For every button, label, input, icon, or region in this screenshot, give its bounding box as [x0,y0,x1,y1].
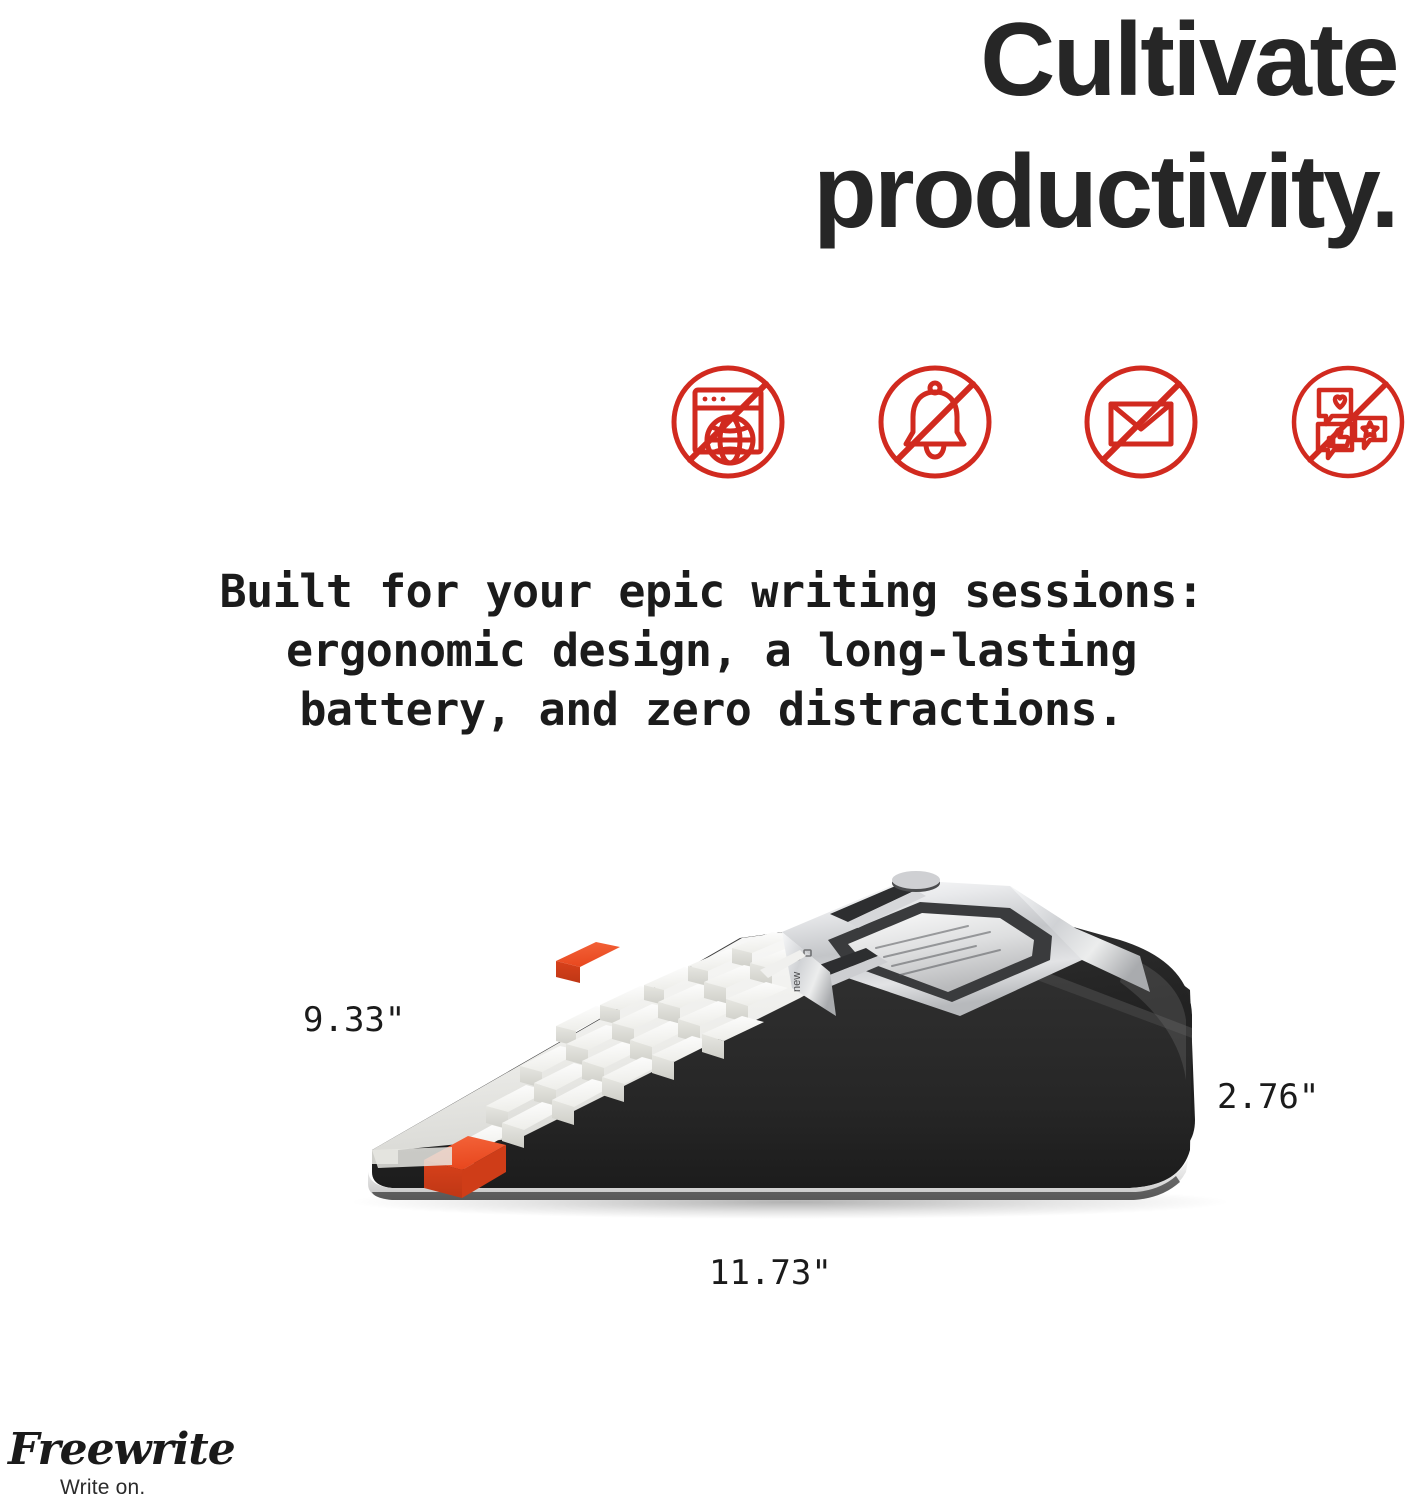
marketing-image-canvas: Cultivate productivity. [0,0,1423,1500]
headline-line-2: productivity. [0,126,1397,258]
dimension-depth-label: 2.76" [1217,1077,1319,1117]
body-copy-line-1: Built for your epic writing sessions: [200,562,1223,621]
no-internet-icon [668,362,788,482]
headline-line-1: Cultivate [0,0,1397,126]
product-photo: new [0,820,1423,1240]
product-illustration: new [0,820,1423,1240]
dimension-height-label: 9.33" [303,1000,405,1040]
distraction-free-icon-row [668,360,1408,484]
accent-key-back [556,942,620,983]
brand-wordmark: Freewrite [8,1428,238,1472]
brand-logo: Freewrite Write on. [8,1428,238,1499]
body-copy: Built for your epic writing sessions: er… [200,562,1223,739]
dimension-width-label: 11.73" [709,1253,832,1293]
product-badge-text: new [791,972,803,992]
brand-tagline: Write on. [60,1477,238,1499]
no-notifications-icon [875,362,995,482]
body-copy-line-3: battery, and zero distractions. [200,680,1223,739]
no-social-media-icon [1288,362,1408,482]
page-title: Cultivate productivity. [0,0,1397,258]
no-email-icon [1081,362,1201,482]
body-copy-line-2: ergonomic design, a long-lasting [200,621,1223,680]
